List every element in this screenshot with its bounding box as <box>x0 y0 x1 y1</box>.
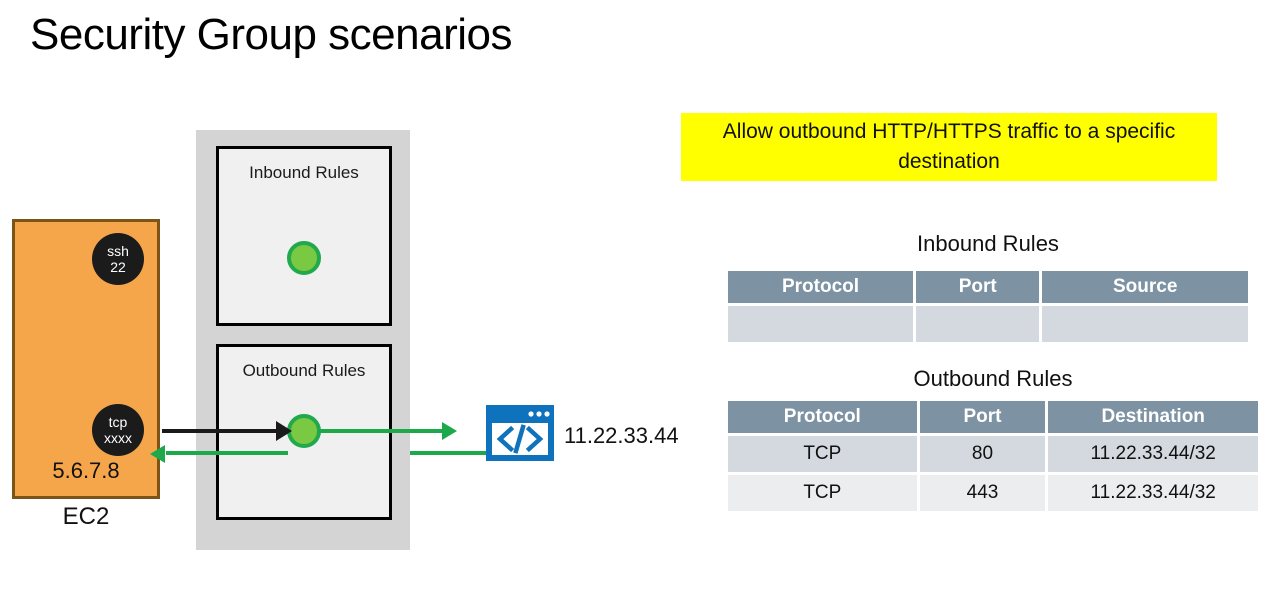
outbound-header-destination: Destination <box>1048 401 1258 433</box>
outbound-cell-protocol: TCP <box>728 436 917 472</box>
diagram-outbound-rules-label: Outbound Rules <box>219 361 389 381</box>
ssh-bubble-port: 22 <box>110 259 126 275</box>
outbound-header-protocol: Protocol <box>728 401 917 433</box>
inbound-cell-port <box>916 306 1039 342</box>
tcp-bubble-port: xxxx <box>104 430 132 446</box>
table-header-row: Protocol Port Destination <box>728 401 1258 433</box>
outbound-cell-protocol: TCP <box>728 475 917 511</box>
inbound-rules-table: Protocol Port Source <box>725 268 1251 345</box>
outbound-rules-table: Protocol Port Destination TCP 80 11.22.3… <box>725 398 1261 514</box>
ec2-ip-address: 5.6.7.8 <box>15 458 157 484</box>
allowed-outbound-arrow-line <box>318 429 448 433</box>
response-return-line <box>410 451 488 455</box>
response-inbound-arrow-head-icon <box>150 445 165 463</box>
security-group-diagram: Inbound Rules Outbound Rules 5.6.7.8 EC2… <box>0 0 700 608</box>
outbound-allow-dot-icon <box>287 414 321 448</box>
inbound-allow-dot-icon <box>287 241 321 275</box>
inbound-rules-table-caption: Inbound Rules <box>728 231 1248 257</box>
web-browser-code-icon <box>485 404 555 462</box>
outbound-cell-destination: 11.22.33.44/32 <box>1048 436 1258 472</box>
table-row <box>728 306 1248 342</box>
ssh-port-bubble: ssh 22 <box>92 233 144 285</box>
table-header-row: Protocol Port Source <box>728 271 1248 303</box>
diagram-inbound-rules-box: Inbound Rules <box>216 146 392 326</box>
outbound-request-arrow-line <box>162 429 284 433</box>
table-row: TCP 443 11.22.33.44/32 <box>728 475 1258 511</box>
outbound-cell-destination: 11.22.33.44/32 <box>1048 475 1258 511</box>
inbound-cell-source <box>1042 306 1248 342</box>
outbound-rules-table-caption: Outbound Rules <box>728 366 1258 392</box>
outbound-cell-port: 443 <box>920 475 1046 511</box>
table-row: TCP 80 11.22.33.44/32 <box>728 436 1258 472</box>
diagram-inbound-rules-label: Inbound Rules <box>219 163 389 183</box>
response-inbound-arrow-line <box>166 451 288 455</box>
inbound-header-protocol: Protocol <box>728 271 913 303</box>
outbound-cell-port: 80 <box>920 436 1046 472</box>
outbound-request-arrow-head-icon <box>276 421 292 441</box>
inbound-header-source: Source <box>1042 271 1248 303</box>
inbound-header-port: Port <box>916 271 1039 303</box>
tcp-port-bubble: tcp xxxx <box>92 404 144 456</box>
outbound-header-port: Port <box>920 401 1046 433</box>
ssh-bubble-protocol: ssh <box>107 243 129 259</box>
ec2-label: EC2 <box>12 503 160 531</box>
tcp-bubble-protocol: tcp <box>109 414 128 430</box>
allowed-outbound-arrow-head-icon <box>442 422 457 440</box>
inbound-cell-protocol <box>728 306 913 342</box>
destination-ip-label: 11.22.33.44 <box>564 423 679 449</box>
scenario-banner: Allow outbound HTTP/HTTPS traffic to a s… <box>681 113 1217 181</box>
